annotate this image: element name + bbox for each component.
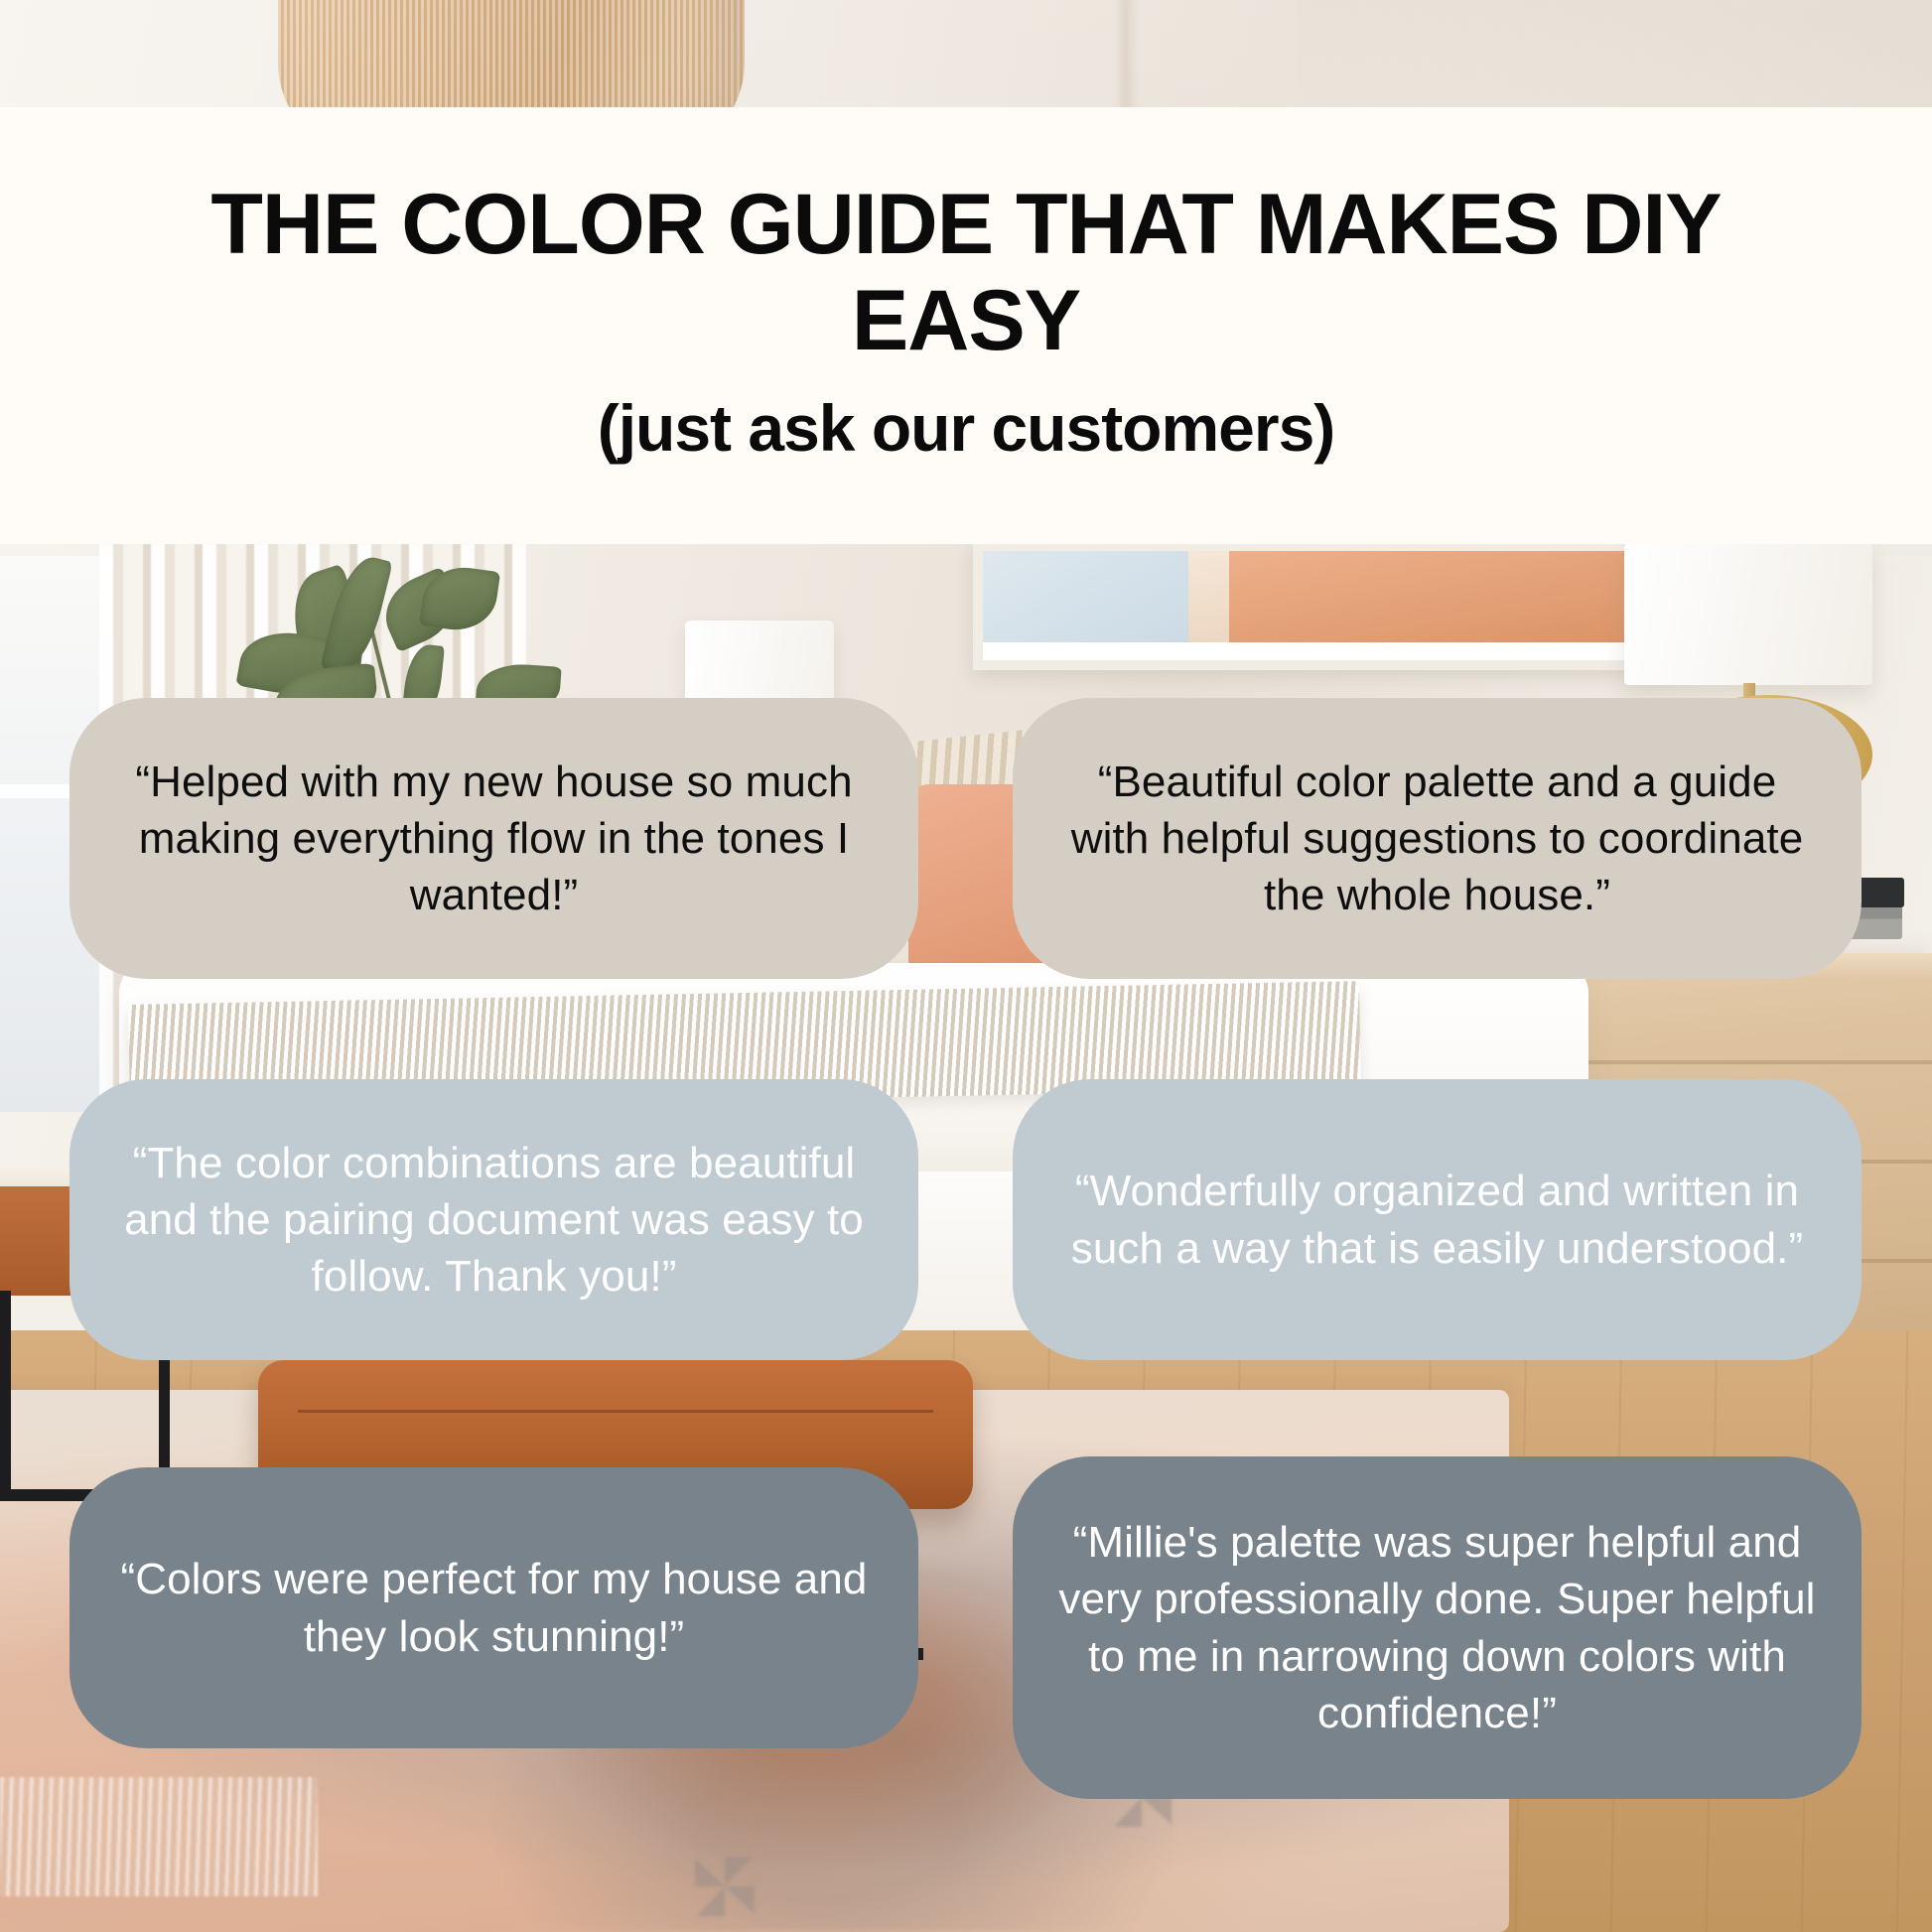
bench-seam [298,1410,933,1413]
testimonial-quote: “Millie's palette was super helpful and … [1058,1514,1816,1741]
testimonial-card: “Beautiful color palette and a guide wit… [1013,698,1862,979]
header-banner: THE COLOR GUIDE THAT MAKES DIY EASY (jus… [0,107,1932,544]
testimonial-card: “Colors were perfect for my house and th… [69,1467,918,1748]
testimonial-quote: “The color combinations are beautiful an… [115,1135,873,1306]
testimonial-poster: THE COLOR GUIDE THAT MAKES DIY EASY (jus… [0,0,1932,1932]
framed-wall-art [973,541,1678,670]
testimonial-quote: “Wonderfully organized and written in su… [1058,1163,1816,1276]
testimonial-card: “Wonderfully organized and written in su… [1013,1079,1862,1360]
testimonial-card: “Helped with my new house so much making… [69,698,918,979]
testimonial-quote: “Helped with my new house so much making… [115,754,873,924]
testimonial-quote: “Beautiful color palette and a guide wit… [1058,754,1816,924]
table-lamp-right [1624,541,1872,685]
page-title: THE COLOR GUIDE THAT MAKES DIY EASY [122,177,1810,368]
testimonial-quote: “Colors were perfect for my house and th… [115,1551,873,1664]
testimonial-card: “The color combinations are beautiful an… [69,1079,918,1360]
page-subtitle: (just ask our customers) [598,392,1335,465]
testimonial-card: “Millie's palette was super helpful and … [1013,1456,1862,1799]
rug-fringe [0,1777,318,1896]
